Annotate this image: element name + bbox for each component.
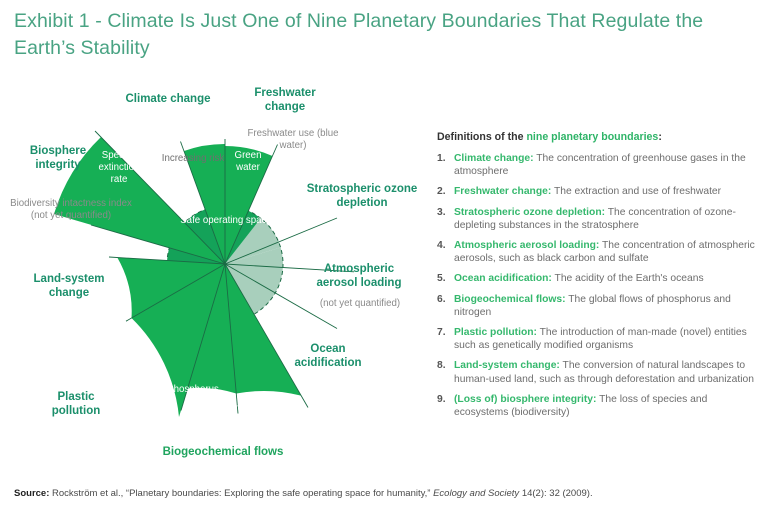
definition-item-2: 2. Freshwater change: The extraction and… <box>437 185 759 198</box>
boundary-label-land-system-change: Land-system change <box>21 272 117 300</box>
definition-term: Plastic pollution: <box>454 327 537 338</box>
definition-term: Biogeochemical flows: <box>454 294 566 305</box>
definition-text: Plastic pollution: The introduction of m… <box>454 326 759 352</box>
boundary-label-freshwater-change: Freshwater change <box>248 86 322 114</box>
definition-text: Atmospheric aerosol loading: The concent… <box>454 239 759 265</box>
wedge-label-species-extinction-rate: Species extinction rate <box>92 150 146 186</box>
source-post: 14(2): 32 (2009). <box>519 488 592 499</box>
definition-item-1: 1. Climate change: The concentration of … <box>437 152 759 178</box>
wedge-label-freshwater-use: Freshwater use (blue water) <box>245 128 341 152</box>
definition-term: (Loss of) biosphere integrity: <box>454 394 596 405</box>
definition-number: 7. <box>437 326 454 352</box>
wedge-label-green-water: Green water <box>228 150 268 174</box>
definition-number: 3. <box>437 206 454 232</box>
boundary-label-ocean-acidification: Ocean acidification <box>288 342 368 370</box>
boundary-label-atmospheric-aerosol: Atmospheric aerosol loading <box>313 262 405 290</box>
definition-number: 4. <box>437 239 454 265</box>
increasing-risk-label: Increasing risk <box>148 153 238 165</box>
definition-description: The extraction and use of freshwater <box>551 186 721 197</box>
definition-term: Stratospheric ozone depletion: <box>454 207 605 218</box>
definition-text: (Loss of) biosphere integrity: The loss … <box>454 393 759 419</box>
definition-text: Biogeochemical flows: The global flows o… <box>454 293 759 319</box>
definition-item-4: 4. Atmospheric aerosol loading: The conc… <box>437 239 759 265</box>
definition-number: 5. <box>437 272 454 285</box>
wedge-label-nitrogen: Nitrogen <box>215 403 267 415</box>
source-label: Source: <box>14 488 49 499</box>
definition-term: Land-system change: <box>454 360 560 371</box>
definition-text: Freshwater change: The extraction and us… <box>454 185 721 198</box>
boundary-sublabel-atmospheric-aerosol: (not yet quantified) <box>308 298 412 310</box>
page-title: Exhibit 1 - Climate Is Just One of Nine … <box>14 8 724 62</box>
definition-text: Climate change: The concentration of gre… <box>454 152 759 178</box>
source-note: Source: Rockström et al., “Planetary bou… <box>14 487 593 500</box>
definition-description: The acidity of the Earth's oceans <box>552 273 704 284</box>
wedge-label-phosphorus: Phosphorus <box>160 384 226 396</box>
definition-term: Atmospheric aerosol loading: <box>454 240 599 251</box>
definition-item-7: 7. Plastic pollution: The introduction o… <box>437 326 759 352</box>
definition-item-3: 3. Stratospheric ozone depletion: The co… <box>437 206 759 232</box>
definition-item-9: 9. (Loss of) biosphere integrity: The lo… <box>437 393 759 419</box>
planetary-boundaries-figure: Climate change Freshwater change Stratos… <box>0 72 430 467</box>
exhibit-page: Exhibit 1 - Climate Is Just One of Nine … <box>0 0 768 518</box>
definitions-heading-suffix: : <box>658 131 662 143</box>
definition-item-8: 8. Land-system change: The conversion of… <box>437 359 759 385</box>
boundary-sublabel-biosphere-integrity: Biodiversity intactness index (not yet q… <box>5 198 137 222</box>
definition-text: Ocean acidification: The acidity of the … <box>454 272 704 285</box>
definition-item-6: 6. Biogeochemical flows: The global flow… <box>437 293 759 319</box>
wedge-label-novel-entities: Novel entities <box>93 358 175 370</box>
source-journal: Ecology and Society <box>433 488 519 499</box>
definition-term: Climate change: <box>454 153 534 164</box>
safe-operating-space-label: Safe operating space <box>180 215 272 227</box>
definitions-panel: Definitions of the nine planetary bounda… <box>437 131 759 426</box>
definition-item-5: 5. Ocean acidification: The acidity of t… <box>437 272 759 285</box>
definition-number: 1. <box>437 152 454 178</box>
source-pre: Rockström et al., “Planetary boundaries:… <box>49 488 433 499</box>
boundary-label-plastic-pollution: Plastic pollution <box>36 390 116 418</box>
boundary-label-stratospheric-ozone: Stratospheric ozone depletion <box>305 182 419 210</box>
definition-term: Ocean acidification: <box>454 273 552 284</box>
definitions-heading-highlight: nine planetary boundaries <box>526 131 658 143</box>
definition-number: 6. <box>437 293 454 319</box>
definition-number: 8. <box>437 359 454 385</box>
definition-text: Land-system change: The conversion of na… <box>454 359 759 385</box>
definition-text: Stratospheric ozone depletion: The conce… <box>454 206 759 232</box>
definition-number: 9. <box>437 393 454 419</box>
definition-number: 2. <box>437 185 454 198</box>
definition-term: Freshwater change: <box>454 186 551 197</box>
boundary-label-climate-change: Climate change <box>118 92 218 106</box>
boundary-label-biogeochemical-flows: Biogeochemical flows <box>150 445 296 459</box>
definitions-heading: Definitions of the nine planetary bounda… <box>437 131 759 143</box>
definitions-heading-prefix: Definitions of the <box>437 131 526 143</box>
